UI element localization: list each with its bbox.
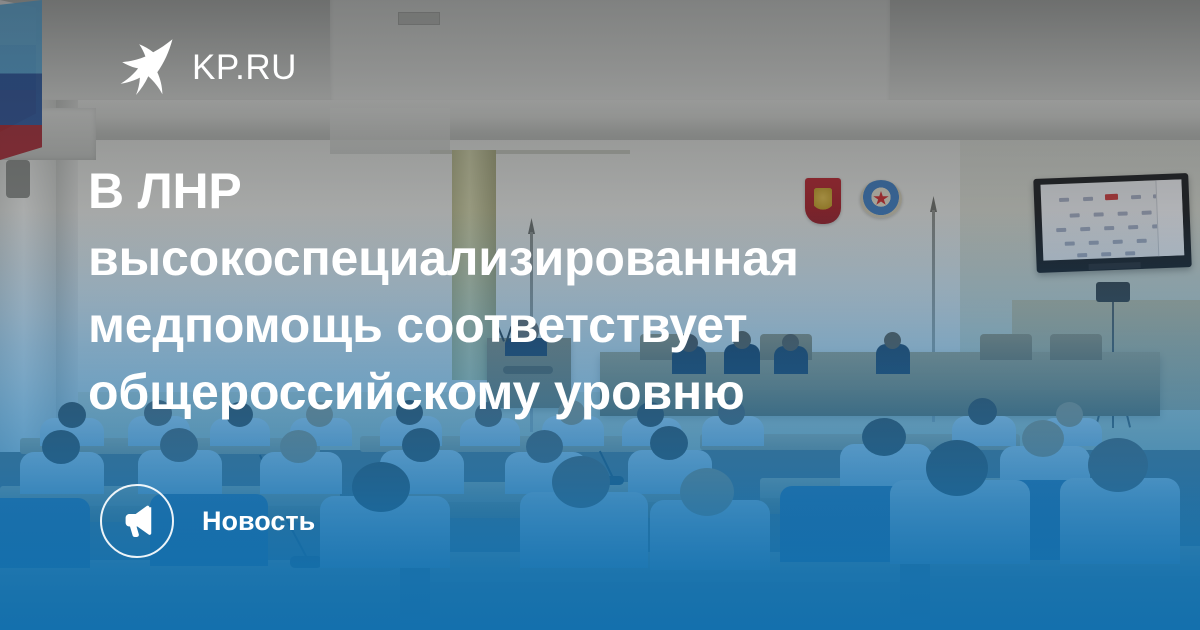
headline: В ЛНР высокоспециализированная медпомощь…: [88, 158, 928, 426]
badge-label: Новость: [202, 508, 315, 535]
headline-line-3: медпомощь соответствует: [88, 292, 928, 359]
headline-line-4: общероссийскому уровню: [88, 359, 928, 426]
headline-line-1: В ЛНР: [88, 158, 928, 225]
megaphone-icon: [118, 502, 156, 540]
swallow-bird-icon: [108, 36, 174, 98]
badge-icon-circle: [100, 484, 174, 558]
brand-logo[interactable]: KP.RU: [108, 36, 297, 98]
share-card: KP.RU В ЛНР высокоспециализированная мед…: [0, 0, 1200, 630]
brand-name: KP.RU: [192, 50, 297, 85]
content-type-badge[interactable]: Новость: [100, 484, 315, 558]
headline-line-2: высокоспециализированная: [88, 225, 928, 292]
